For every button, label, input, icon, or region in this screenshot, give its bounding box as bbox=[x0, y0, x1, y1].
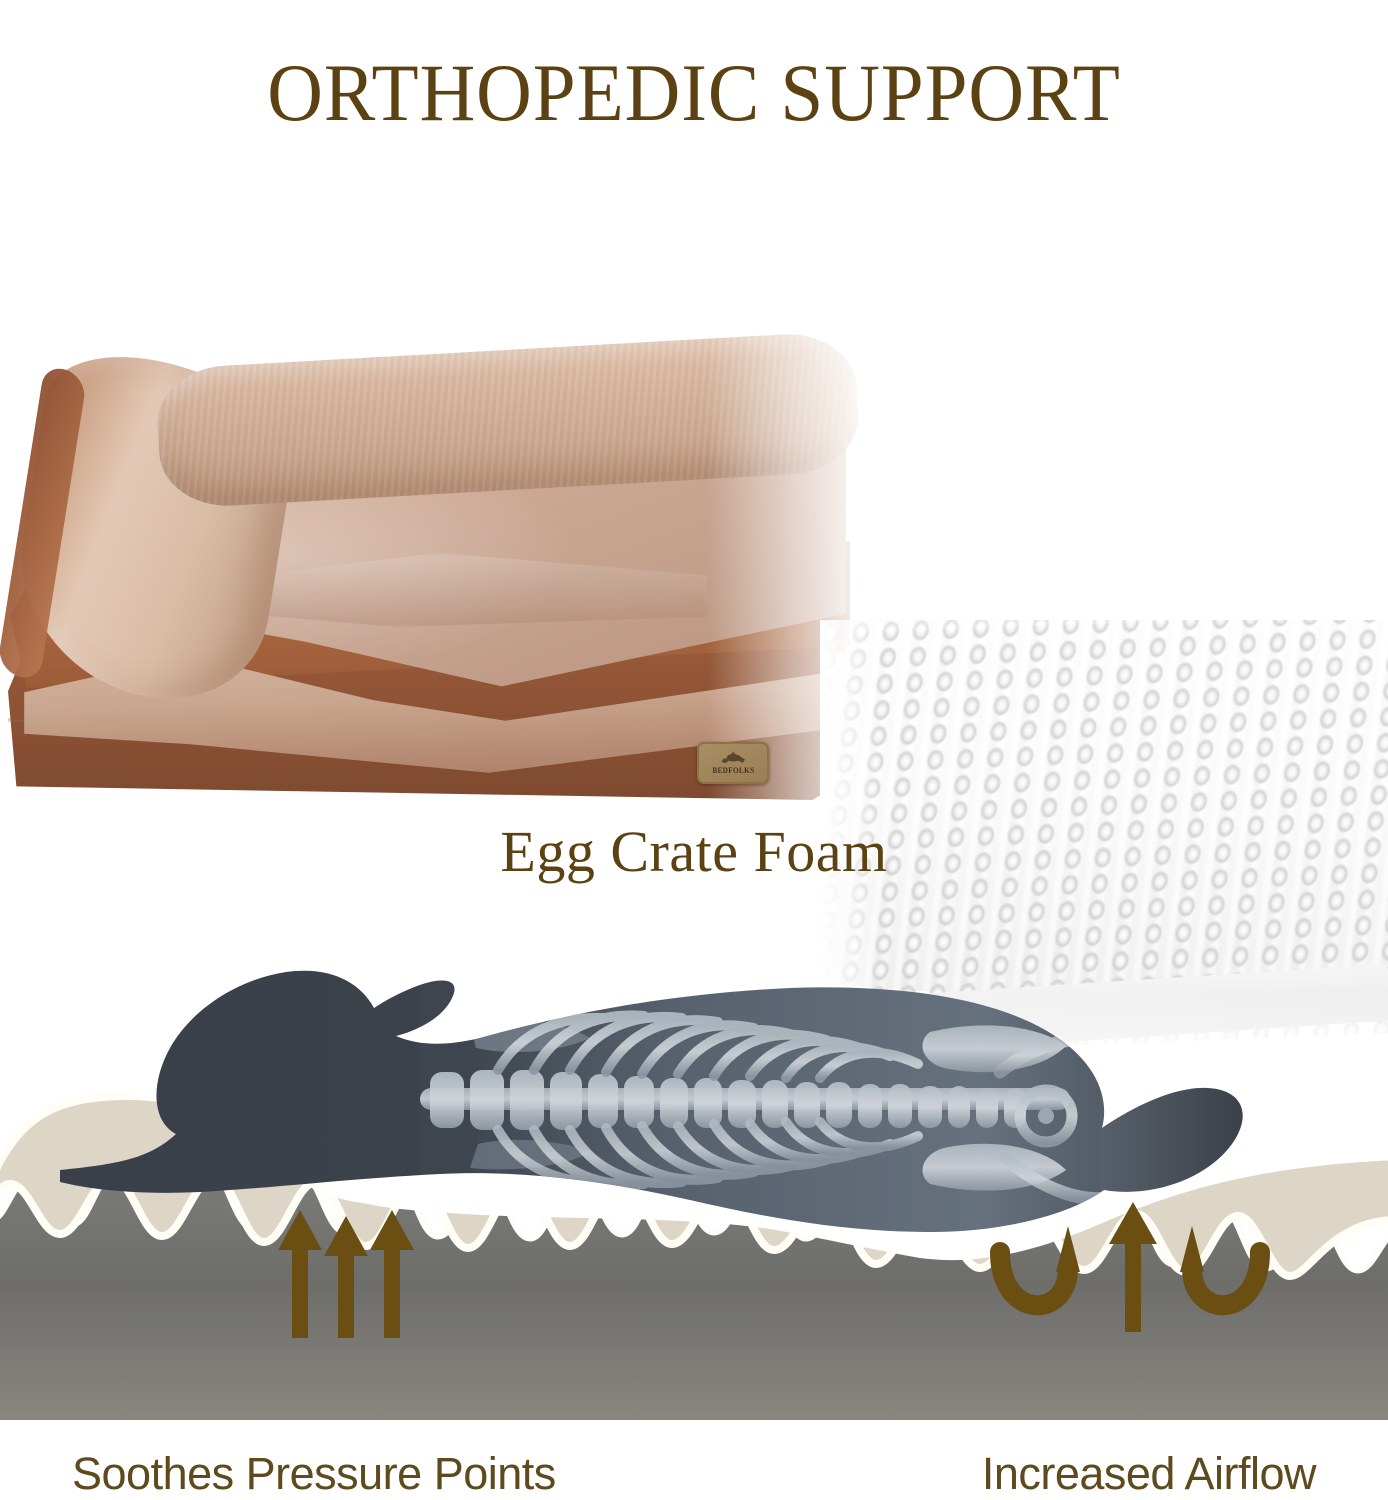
caption-soothes-pressure-points: Soothes Pressure Points bbox=[72, 1448, 556, 1500]
dog-icon bbox=[720, 751, 746, 765]
dog-bed-photo bbox=[8, 328, 856, 808]
brand-tag: BEDFOLKS bbox=[697, 742, 769, 784]
cutaway-diagram-panel bbox=[0, 920, 1388, 1420]
egg-crate-foam-label: Egg Crate Foam bbox=[0, 818, 1388, 885]
page-title: ORTHOPEDIC SUPPORT bbox=[42, 52, 1347, 134]
pressure-arrows bbox=[278, 1210, 414, 1338]
brand-tag-label: BEDFOLKS bbox=[712, 766, 754, 775]
product-photo-panel bbox=[0, 300, 1388, 820]
cutaway-diagram bbox=[0, 920, 1388, 1420]
caption-increased-airflow: Increased Airflow bbox=[982, 1448, 1316, 1500]
bottom-caption-row: Soothes Pressure Points Increased Airflo… bbox=[0, 1448, 1388, 1500]
